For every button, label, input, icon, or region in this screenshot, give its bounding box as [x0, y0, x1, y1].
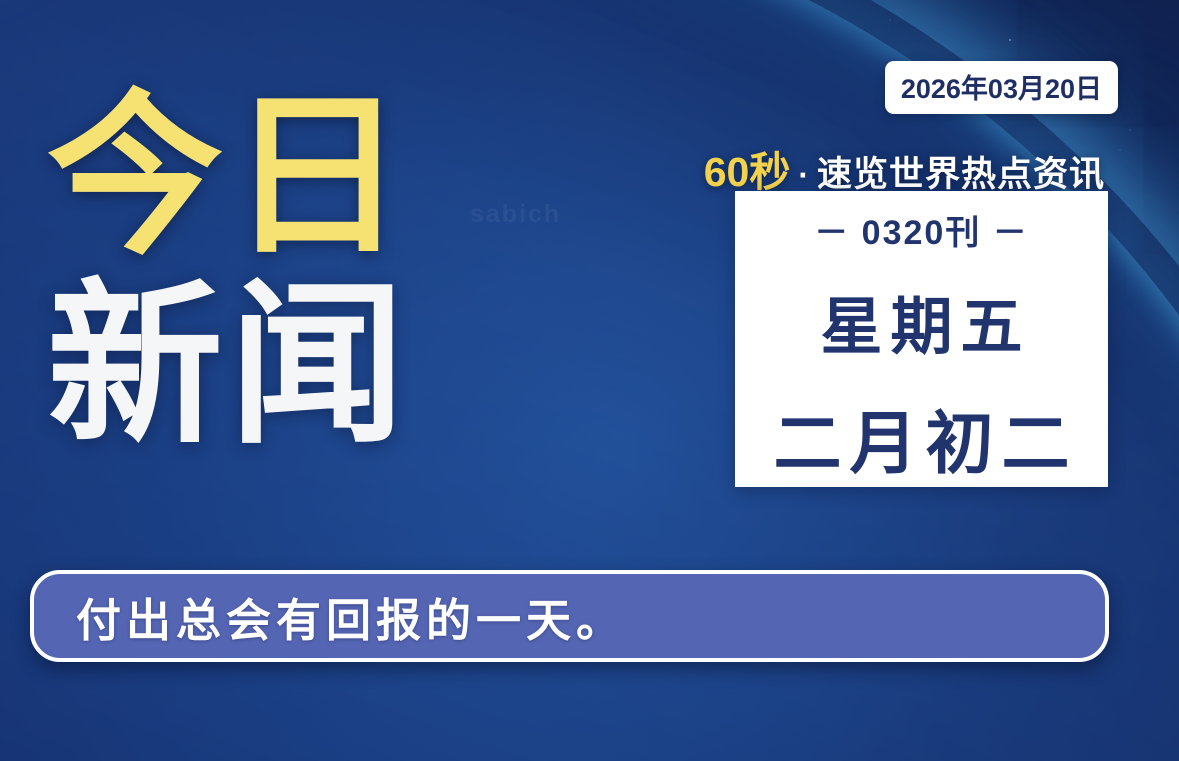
tagline-separator: ·: [790, 157, 817, 194]
tagline: 60秒 · 速览世界热点资讯: [704, 138, 1105, 198]
page-title: 今日 新闻: [47, 95, 411, 450]
tagline-subtitle: 速览世界热点资讯: [817, 146, 1105, 197]
issue-number: － 0320刊 －: [814, 205, 1029, 254]
date-badge: 2026年03月20日: [885, 61, 1118, 114]
headline-line-1: 今日: [47, 95, 411, 260]
watermark-text: sabich: [470, 200, 561, 229]
quote-text: 付出总会有回报的一天。: [34, 584, 626, 649]
headline-line-2: 新闻: [47, 284, 411, 449]
lunar-date-label: 二月初二: [765, 388, 1077, 487]
weekday-label: 星期五: [812, 276, 1030, 366]
issue-card: － 0320刊 － 星期五 二月初二: [735, 191, 1108, 487]
news-poster: sabich 今日 新闻 2026年03月20日 60秒 · 速览世界热点资讯 …: [0, 0, 1179, 761]
quote-bar: 付出总会有回报的一天。: [30, 570, 1109, 662]
tagline-seconds: 60秒: [704, 138, 791, 198]
